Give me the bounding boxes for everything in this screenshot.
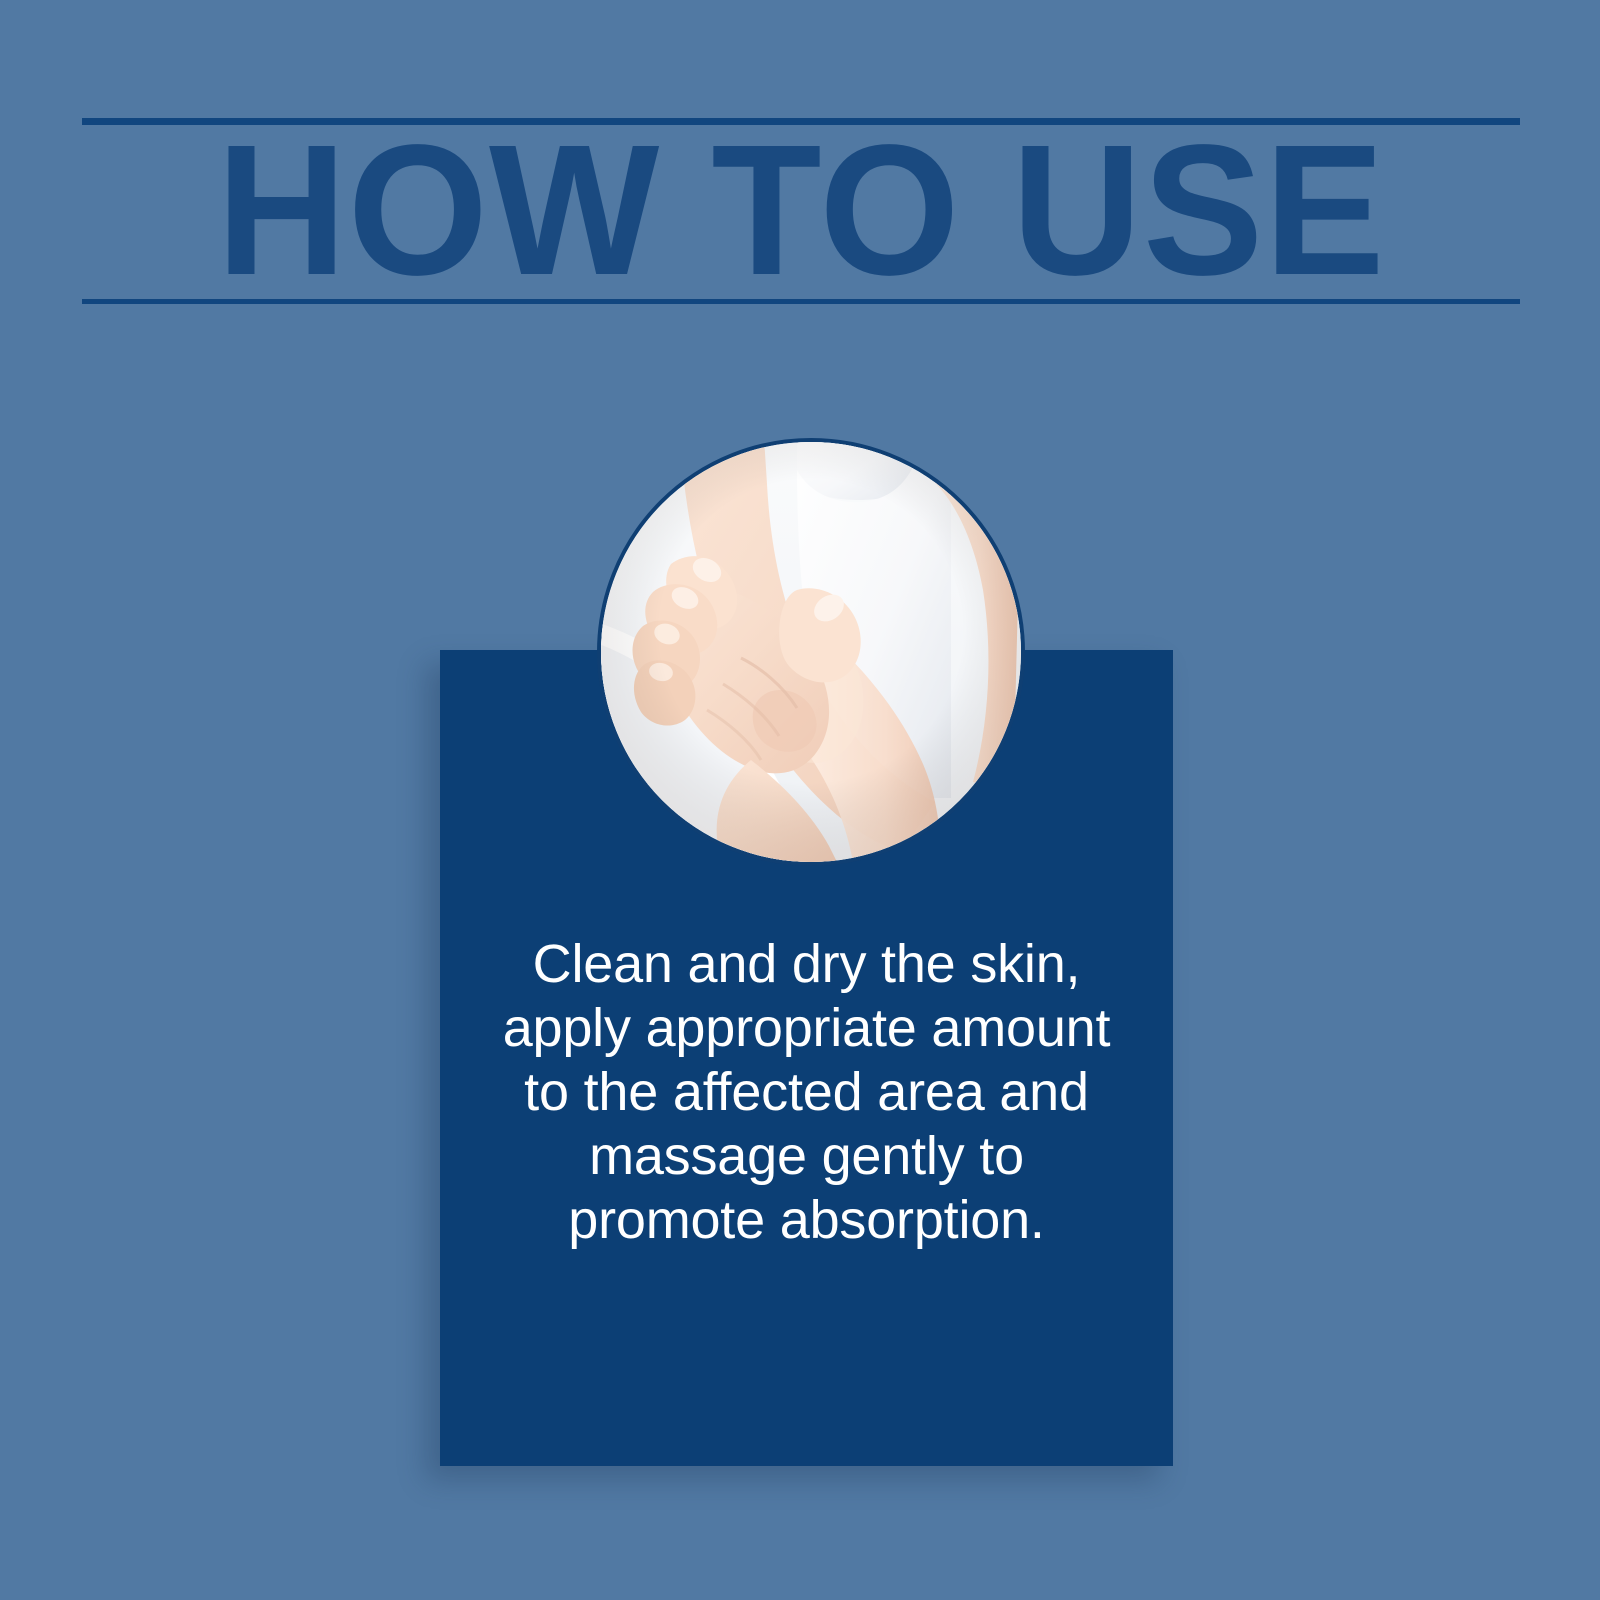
poster-canvas: HOW TO USE Clean and dry the skin, apply… xyxy=(0,0,1600,1600)
usage-photo xyxy=(597,438,1025,866)
header-block: HOW TO USE xyxy=(82,118,1520,304)
instruction-text: Clean and dry the skin, apply appropriat… xyxy=(490,932,1123,1252)
usage-photo-illustration xyxy=(601,442,1021,862)
title-bottom-rule xyxy=(82,299,1520,304)
page-title: HOW TO USE xyxy=(104,122,1499,300)
